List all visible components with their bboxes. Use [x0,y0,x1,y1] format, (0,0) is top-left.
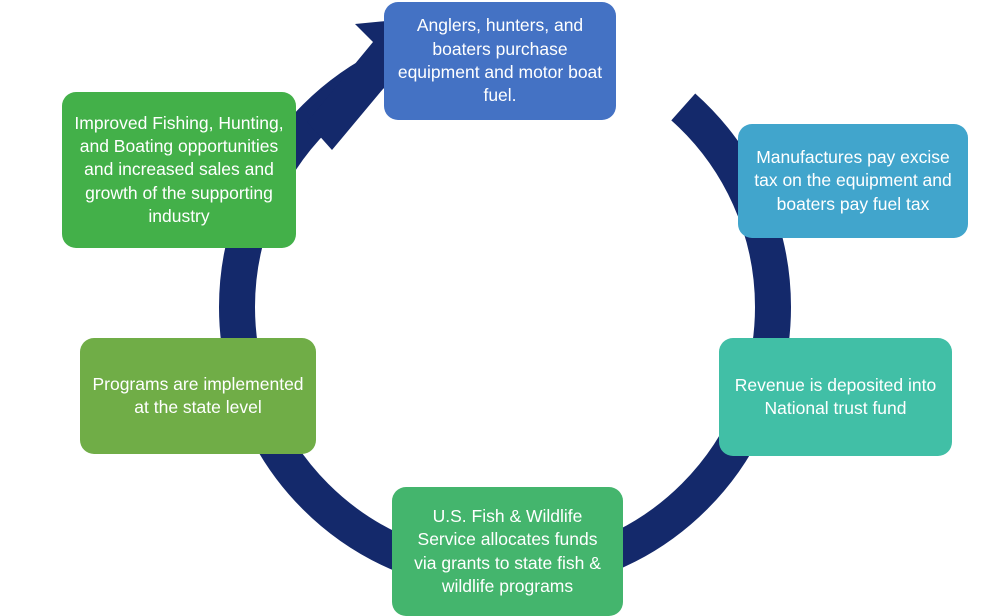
cycle-node-usfws-allocates-label: U.S. Fish & Wildlife Service allocates f… [404,505,611,598]
cycle-node-improved-opportunities[interactable]: Improved Fishing, Hunting, and Boating o… [62,92,296,248]
cycle-node-excise-tax-label: Manufactures pay excise tax on the equip… [750,146,956,216]
cycle-node-programs-implemented[interactable]: Programs are implemented at the state le… [80,338,316,454]
cycle-node-revenue-deposited[interactable]: Revenue is deposited into National trust… [719,338,952,456]
cycle-node-programs-implemented-label: Programs are implemented at the state le… [92,373,304,420]
cycle-node-improved-opportunities-label: Improved Fishing, Hunting, and Boating o… [74,112,284,228]
cycle-node-excise-tax[interactable]: Manufactures pay excise tax on the equip… [738,124,968,238]
cycle-node-usfws-allocates[interactable]: U.S. Fish & Wildlife Service allocates f… [392,487,623,616]
cycle-diagram: Anglers, hunters, and boaters purchase e… [0,0,1000,616]
cycle-node-revenue-deposited-label: Revenue is deposited into National trust… [731,374,940,421]
cycle-node-purchase[interactable]: Anglers, hunters, and boaters purchase e… [384,2,616,120]
cycle-node-purchase-label: Anglers, hunters, and boaters purchase e… [396,14,604,107]
